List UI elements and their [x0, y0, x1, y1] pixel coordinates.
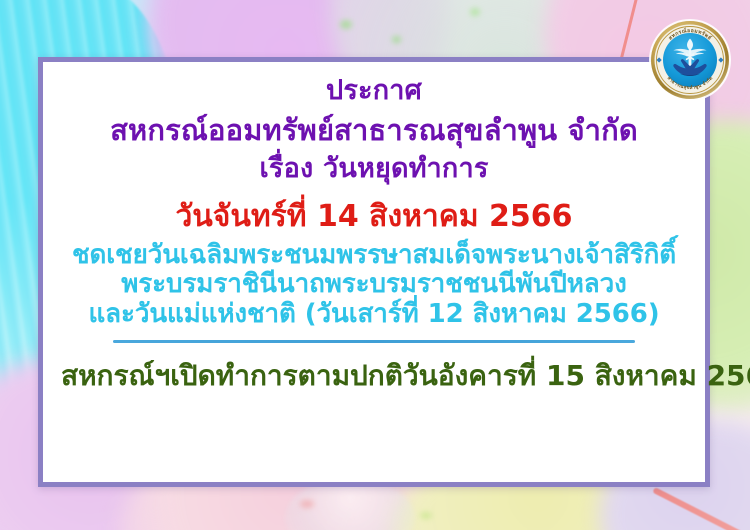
announcement-card: ประกาศ สหกรณ์ออมทรัพย์สาธารณสุขลำพูน จำก… — [38, 57, 710, 487]
background-sparkle-green-a — [340, 20, 352, 29]
cooperative-seal-icon: สหกรณ์ออมทรัพย์ สาธารณสุขลำพูน จำกัด — [648, 18, 732, 102]
reopen-notice: สหกรณ์ฯเปิดทำการตามปกติวันอังคารที่ 15 ส… — [61, 360, 687, 392]
background-sparkle-green-c — [470, 8, 480, 16]
background-sparkle-pink-a — [300, 500, 314, 508]
announcement-subject: เรื่อง วันหยุดทำการ — [61, 154, 687, 185]
section-divider — [113, 340, 635, 343]
holiday-date: วันจันทร์ที่ 14 สิงหาคม 2566 — [61, 200, 687, 234]
background-sparkle-green-b — [392, 36, 401, 43]
announcement-heading: ประกาศ — [61, 76, 687, 107]
reason-line-3: และวันแม่แห่งชาติ (วันเสาร์ที่ 12 สิงหาค… — [61, 300, 687, 330]
background-sparkle-green-d — [420, 512, 432, 519]
reason-line-2: พระบรมราชินีนาถพระบรมราชชนนีพันปีหลวง — [61, 270, 687, 300]
announcement-poster: ประกาศ สหกรณ์ออมทรัพย์สาธารณสุขลำพูน จำก… — [0, 0, 750, 530]
organization-name: สหกรณ์ออมทรัพย์สาธารณสุขลำพูน จำกัด — [61, 114, 687, 147]
reason-line-1: ชดเชยวันเฉลิมพระชนมพรรษาสมเด็จพระนางเจ้า… — [61, 241, 687, 271]
